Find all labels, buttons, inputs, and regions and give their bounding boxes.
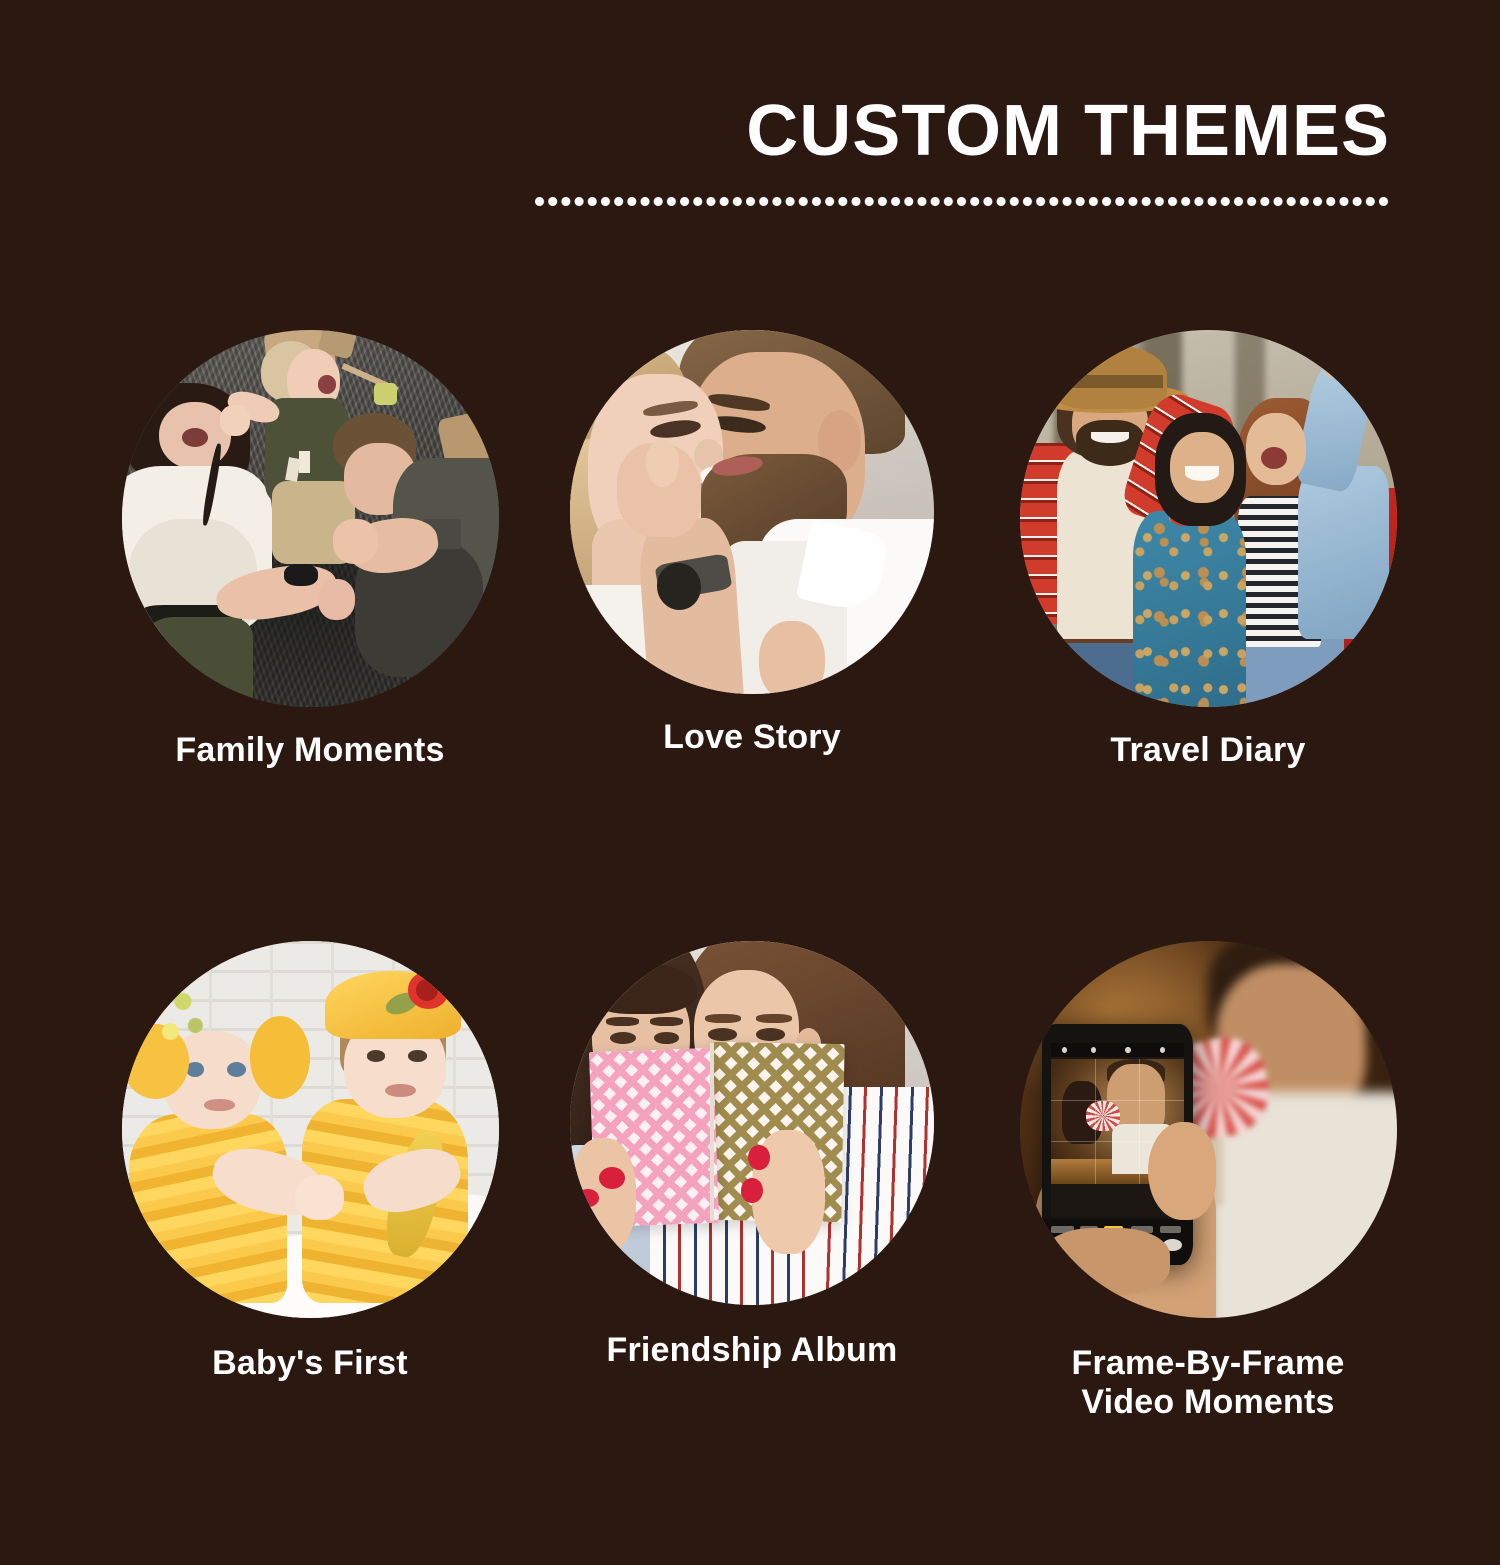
theme-label-babys-first: Baby's First [120,1344,500,1383]
theme-card-family-moments[interactable]: Family Moments [120,330,500,770]
theme-image-friendship-album[interactable] [570,941,934,1305]
themes-grid: Family Moments Love Story [0,0,1500,1565]
phone-camera-illustration [1020,941,1397,1318]
theme-card-frame-by-frame-video-moments[interactable]: Frame-By-Frame Video Moments [1018,941,1398,1423]
theme-image-travel-diary[interactable] [1020,330,1397,707]
theme-image-love-story[interactable] [570,330,934,694]
theme-card-love-story[interactable]: Love Story [562,330,942,757]
theme-label-family-moments: Family Moments [120,731,500,770]
theme-label-friendship-album: Friendship Album [562,1331,942,1370]
theme-image-family-moments[interactable] [122,330,499,707]
theme-label-love-story: Love Story [562,718,942,757]
family-photo-illustration [122,330,499,707]
couple-kissing-illustration [570,330,934,694]
friends-travel-illustration [1020,330,1397,707]
theme-label-travel-diary: Travel Diary [1018,731,1398,770]
theme-card-travel-diary[interactable]: Travel Diary [1018,330,1398,770]
friends-album-illustration [570,941,934,1305]
babies-illustration [122,941,499,1318]
theme-card-friendship-album[interactable]: Friendship Album [562,941,942,1370]
theme-image-frame-by-frame-video-moments[interactable] [1020,941,1397,1318]
theme-card-babys-first[interactable]: Baby's First [120,941,500,1383]
theme-label-frame-by-frame-video-moments: Frame-By-Frame Video Moments [1018,1344,1398,1423]
theme-image-babys-first[interactable] [122,941,499,1318]
